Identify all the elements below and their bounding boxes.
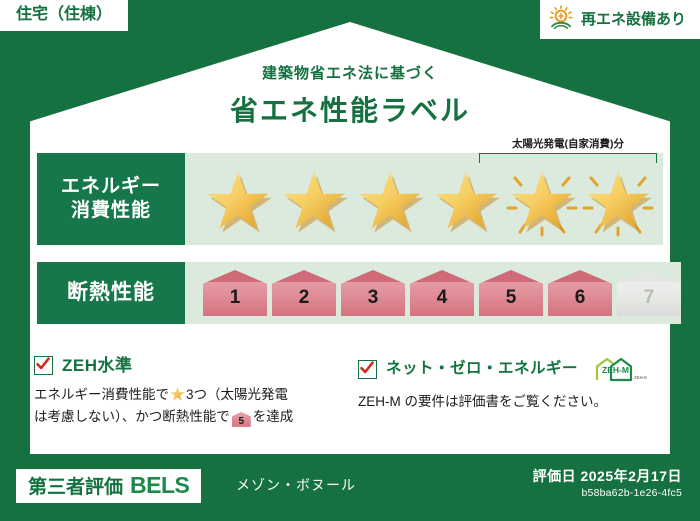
star-icon	[170, 387, 185, 402]
insulation-grade-item-inactive: 7	[617, 270, 681, 316]
criterion-zehm-body: ZEH-M の要件は評価書をご覧ください。	[358, 391, 658, 413]
star-item-solar	[581, 168, 655, 238]
criterion-zehm-header: ネット・ゼロ・エネルギー ZEH-M ZEH-M	[358, 356, 658, 382]
building-type-text: 住宅（住棟）	[16, 6, 112, 23]
grade-number: 7	[644, 288, 655, 316]
star-item	[429, 168, 503, 238]
evaluation-date: 評価日 2025年2月17日	[533, 469, 682, 483]
energy-performance-row-label: エネルギー 消費性能	[37, 153, 185, 245]
grade-number: 3	[368, 288, 379, 316]
star-item	[353, 168, 427, 238]
criterion-zeh-header: ZEH水準	[34, 356, 334, 375]
energy-label-line1: エネルギー	[61, 175, 161, 199]
energy-performance-row: エネルギー 消費性能 太陽光発電(自家消費)分	[37, 153, 663, 245]
renewable-equipment-badge: 再エネ設備あり	[540, 0, 700, 39]
zehm-logo: ZEH-M ZEH-M	[591, 356, 647, 382]
star-item	[277, 168, 351, 238]
solar-sun-icon	[548, 5, 574, 34]
zeh-body-part4: を達成	[253, 409, 294, 424]
label-subtitle: 建築物省エネ法に基づく	[0, 62, 700, 83]
checkbox-checked-icon	[358, 360, 377, 379]
insulation-grade-item: 2	[272, 270, 336, 316]
energy-performance-row-body: 太陽光発電(自家消費)分	[185, 153, 663, 245]
grade-number: 2	[299, 288, 310, 316]
insulation-label-text: 断熱性能	[67, 280, 155, 306]
svg-text:ZEH-M: ZEH-M	[634, 375, 647, 380]
grade-number: 6	[575, 288, 586, 316]
zeh-body-part3: は考慮しない）、かつ断熱性能で	[34, 409, 230, 424]
grade-number: 1	[230, 288, 241, 316]
energy-star-rating	[185, 160, 655, 238]
bels-en-text: BELS	[130, 474, 189, 497]
checkbox-checked-icon	[34, 356, 53, 375]
building-name: メゾン・ボヌール	[236, 478, 356, 492]
insulation-performance-row: 断熱性能 1 2 3 4	[37, 262, 663, 324]
criterion-zehm-title: ネット・ゼロ・エネルギー	[386, 361, 578, 377]
criterion-zeh-title: ZEH水準	[62, 357, 133, 374]
star-item-solar	[505, 168, 579, 238]
insulation-row-body: 1 2 3 4 5	[185, 262, 681, 324]
house-grade-icon: 5	[232, 412, 251, 427]
building-type-chip: 住宅（住棟）	[0, 0, 128, 31]
solar-generation-annotation: 太陽光発電(自家消費)分	[479, 139, 657, 163]
label-title-block: 建築物省エネ法に基づく 省エネ性能ラベル	[0, 62, 700, 129]
energy-label-line2: 消費性能	[71, 199, 151, 223]
insulation-grade-item: 4	[410, 270, 474, 316]
page-title: 省エネ性能ラベル	[0, 89, 700, 129]
label-footer: 第三者評価 BELS メゾン・ボヌール 評価日 2025年2月17日 b58ba…	[0, 455, 700, 521]
evaluation-id: b58ba62b-1e26-4fc5	[581, 488, 682, 499]
criterion-zehm: ネット・ゼロ・エネルギー ZEH-M ZEH-M ZEH-M の要件は評価書をご…	[358, 356, 658, 413]
star-item	[201, 168, 275, 238]
energy-performance-label: 住宅（住棟） 再エネ設備あり	[0, 0, 700, 521]
insulation-grade-item: 5	[479, 270, 543, 316]
grade-number: 4	[437, 288, 448, 316]
insulation-grade-item: 1	[203, 270, 267, 316]
insulation-grade-scale: 1 2 3 4 5	[185, 270, 681, 316]
insulation-grade-item: 3	[341, 270, 405, 316]
zeh-body-part1: エネルギー消費性能で	[34, 387, 169, 402]
grade-number: 5	[506, 288, 517, 316]
solar-annotation-text: 太陽光発電(自家消費)分	[479, 139, 657, 150]
criterion-zeh: ZEH水準 エネルギー消費性能で3つ（太陽光発電 は考慮しない）、かつ断熱性能で…	[34, 356, 334, 428]
criterion-zeh-body: エネルギー消費性能で3つ（太陽光発電 は考慮しない）、かつ断熱性能で5を達成	[34, 384, 334, 428]
zeh-body-part2: 3つ（太陽光発電	[186, 387, 288, 402]
insulation-row-label: 断熱性能	[37, 262, 185, 324]
insulation-grade-item: 6	[548, 270, 612, 316]
svg-text:ZEH-M: ZEH-M	[602, 365, 629, 375]
solar-bracket	[479, 153, 657, 163]
bels-jp-text: 第三者評価	[28, 478, 123, 497]
bels-certification-badge: 第三者評価 BELS	[16, 469, 201, 503]
renewable-badge-label: 再エネ設備あり	[581, 12, 686, 27]
